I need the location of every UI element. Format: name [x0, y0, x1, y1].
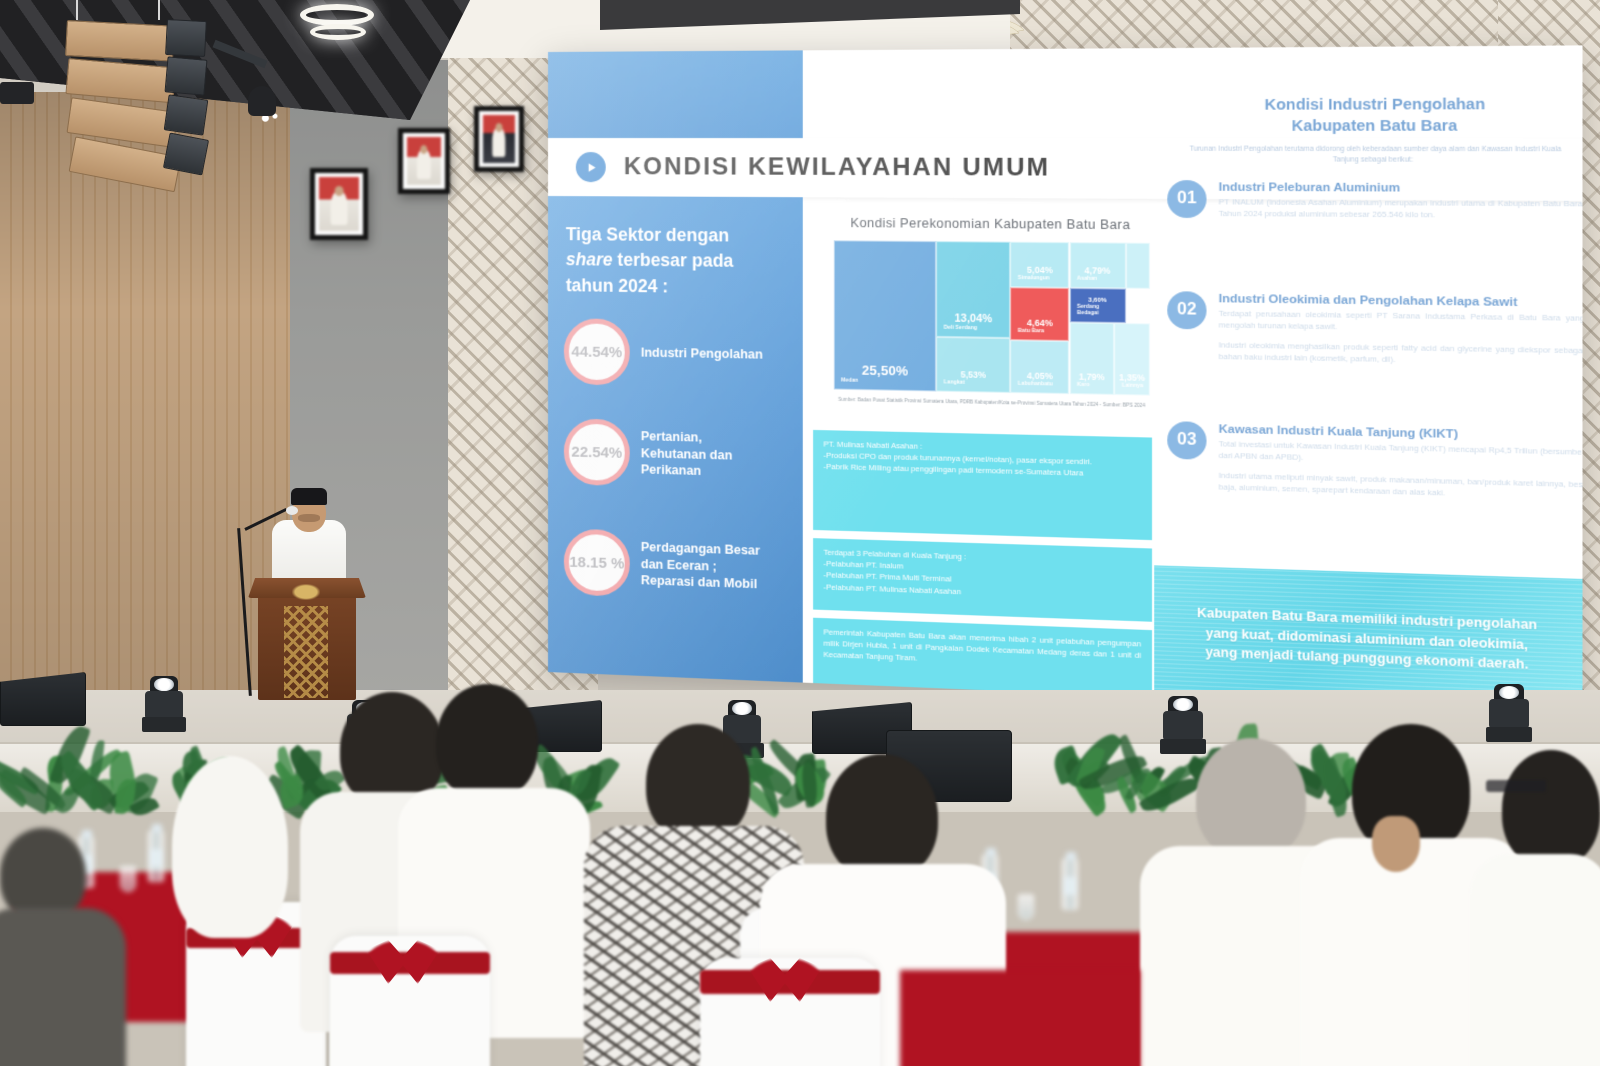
portrait-official-2 — [398, 128, 450, 194]
treemap-value: 4,64% — [1027, 317, 1053, 328]
left-panel-heading: Tiga Sektor dengan share terbesar pada t… — [566, 222, 784, 301]
industry-number-1: 01 — [1167, 180, 1206, 218]
ring-ceiling-light — [300, 4, 374, 26]
note-box-1: PT. Mulinas Nabati Asahan : -Produksi CP… — [813, 430, 1152, 540]
presentation-slide: KONDISI KEWILAYAHAN UMUM Tiga Sektor den… — [548, 45, 1582, 715]
audience-area — [0, 640, 1600, 1066]
treemap-value: 1,79% — [1079, 371, 1105, 382]
treemap-cell: 5,53%Langkat — [936, 337, 1010, 393]
attendee-head — [436, 684, 538, 800]
presentation-room-photo: KONDISI KEWILAYAHAN UMUM Tiga Sektor den… — [0, 0, 1600, 1066]
attendee-hand — [1372, 816, 1420, 872]
hanging-stage-light-center — [248, 86, 276, 116]
treemap-title: Kondisi Perekonomian Kabupaten Batu Bara — [832, 216, 1150, 233]
treemap-cell — [1126, 243, 1150, 289]
industry-number-3: 03 — [1167, 421, 1206, 460]
industry-number-2: 02 — [1167, 291, 1206, 329]
ring-ceiling-light-inner — [310, 24, 366, 40]
industry-item-3: 03 Kawasan Industri Kuala Tanjung (KIKT)… — [1167, 421, 1582, 503]
treemap-value: 4,05% — [1027, 370, 1053, 381]
treemap-category: Medan — [841, 377, 929, 385]
industry-body2-2: Industri oleokimia menghasilkan produk s… — [1219, 339, 1583, 368]
right-panel-subtitle: Turunan Industri Pengolahan terutama did… — [1178, 144, 1573, 166]
projection-screen: KONDISI KEWILAYAHAN UMUM Tiga Sektor den… — [548, 45, 1582, 715]
treemap-category: Labuhanbatu — [1018, 381, 1062, 388]
left-stats-panel: Tiga Sektor dengan share terbesar pada t… — [548, 196, 803, 683]
presenter-peci-cap — [291, 488, 327, 505]
treemap-chart: 25,50%Medan13,04%Deli Serdang5,53%Langka… — [834, 240, 1150, 395]
heading-line-1: Tiga Sektor dengan — [566, 224, 729, 245]
treemap-cell: 5,04%Simalungun — [1010, 242, 1069, 288]
treemap-category: Langkat — [944, 379, 1003, 386]
industry-item-2: 02 Industri Oleokimia dan Pengolahan Kel… — [1167, 291, 1582, 369]
note-box-2: Terdapat 3 Pelabuhan di Kuala Tanjung : … — [813, 538, 1152, 622]
drinking-glass — [1018, 894, 1034, 920]
treemap-cell: 4,79%Asahan — [1069, 242, 1125, 288]
stat-item-2: 22.54% Pertanian, Kehutanan dan Perikana… — [564, 418, 771, 490]
treemap-category: Serdang Bedagai — [1077, 304, 1118, 317]
heading-emphasis: share — [566, 250, 613, 271]
water-bottle — [148, 830, 164, 882]
treemap-category: Batu Bara — [1018, 328, 1062, 335]
stat-value-2: 22.54% — [564, 418, 630, 486]
stat-item-1: 44.54% Industri Pengolahan — [564, 318, 763, 388]
treemap-category: Lainnya — [1122, 383, 1142, 390]
treemap-cell: 1,35%Lainnya — [1114, 323, 1149, 395]
treemap-category: Deli Serdang — [944, 325, 1003, 332]
right-title-line-2: Kabupaten Batu Bara — [1292, 117, 1457, 134]
treemap-category: Simalungun — [1018, 275, 1062, 282]
industry-body-1: PT INALUM (Indonesia Asahan Aluminium) m… — [1219, 196, 1583, 221]
treemap-cell: 25,50%Medan — [834, 240, 937, 391]
stat-value-1: 44.54% — [564, 318, 630, 385]
play-circle-icon — [576, 152, 606, 182]
treemap-value: 5,53% — [961, 369, 987, 380]
right-panel-title: Kondisi Industri Pengolahan Kabupaten Ba… — [1172, 95, 1583, 137]
treemap-value: 1,35% — [1119, 372, 1145, 383]
podium-garuda-emblem — [292, 584, 320, 600]
treemap-value: 5,04% — [1027, 264, 1053, 275]
portrait-official-1 — [310, 168, 368, 240]
treemap-cell: 4,05%Labuhanbatu — [1010, 340, 1069, 394]
treemap-cell: 13,04%Deli Serdang — [936, 241, 1010, 338]
industry-body-2: Terdapat perusahaan oleokimia seperti PT… — [1219, 308, 1583, 336]
hanging-stage-light-left — [0, 82, 34, 104]
treemap-category: Karo — [1077, 382, 1107, 389]
stat-item-3: 18.15 % Perdagangan Besar dan Eceran ; R… — [564, 528, 771, 601]
treemap-cell: 4,64%Batu Bara — [1010, 287, 1069, 341]
eyeglasses — [1486, 780, 1546, 792]
treemap-value: 25,50% — [862, 362, 908, 378]
treemap-value: 13,04% — [955, 313, 993, 326]
attendee-head — [646, 724, 750, 842]
treemap-category: Asahan — [1077, 275, 1118, 282]
attendee-head-grey — [1196, 738, 1306, 860]
note-text-1: PT. Mulinas Nabati Asahan : -Produksi CP… — [813, 430, 1152, 490]
right-title-line-1: Kondisi Industri Pengolahan — [1265, 96, 1486, 113]
stat-label-3: Perdagangan Besar dan Eceran ; Reparasi … — [641, 539, 771, 593]
treemap-cell: 1,79%Karo — [1069, 323, 1114, 395]
stat-label-1: Industri Pengolahan — [641, 344, 763, 363]
heading-line-2: terbesar pada — [612, 250, 733, 271]
portrait-president — [474, 106, 524, 172]
stat-label-2: Pertanian, Kehutanan dan Perikanan — [641, 428, 771, 481]
treemap-caption: Sumber: Badan Pusat Statistik Provinsi S… — [834, 396, 1150, 410]
slide-title: KONDISI KEWILAYAHAN UMUM — [624, 152, 1050, 184]
treemap-cell: 3,60%Serdang Bedagai — [1069, 288, 1125, 324]
water-bottle — [1062, 858, 1078, 910]
microphone-head — [286, 506, 298, 515]
treemap-value: 4,79% — [1084, 265, 1110, 276]
note-text-2: Terdapat 3 Pelabuhan di Kuala Tanjung : … — [813, 538, 1152, 612]
attendee-hijab — [172, 756, 288, 938]
industry-item-1: 01 Industri Peleburan Aluminium PT INALU… — [1167, 180, 1582, 222]
attendee-head — [1502, 750, 1600, 868]
industry-heading-1: Industri Peleburan Aluminium — [1219, 180, 1583, 197]
heading-line-3: tahun 2024 : — [566, 275, 668, 296]
drinking-glass — [120, 866, 136, 892]
attendee-head — [826, 754, 938, 880]
attendee-torso — [0, 908, 126, 1066]
presenter-face-shadow — [298, 514, 320, 522]
stat-value-3: 18.15 % — [564, 528, 630, 596]
industry-body2-3: Industri utama meliputi minyak sawit, pr… — [1219, 470, 1583, 503]
banquet-table-center — [900, 970, 1140, 1066]
attendee-torso — [1470, 854, 1600, 1066]
line-array-speaker-cluster — [62, 8, 212, 198]
